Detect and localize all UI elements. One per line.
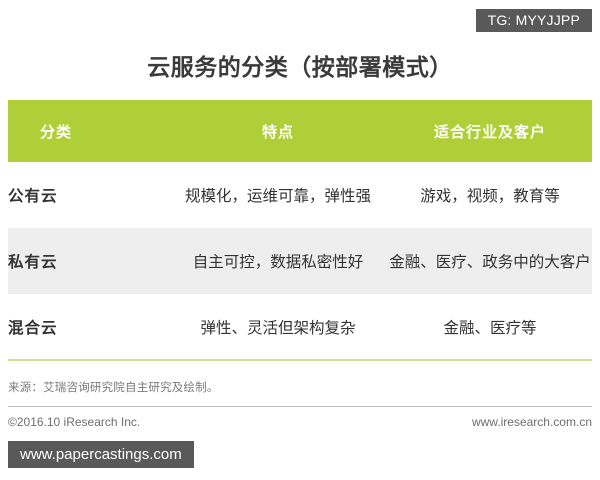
- cell-category: 公有云: [8, 162, 168, 228]
- table-header-row: 分类 特点 适合行业及客户: [8, 100, 592, 162]
- column-header-fit: 适合行业及客户: [388, 100, 592, 162]
- table-row: 私有云 自主可控，数据私密性好 金融、医疗、政务中的大客户: [8, 228, 592, 294]
- column-header-feature: 特点: [168, 100, 388, 162]
- footer-divider: [8, 406, 592, 407]
- cell-category: 私有云: [8, 228, 168, 294]
- cell-fit: 金融、医疗、政务中的大客户: [388, 228, 592, 294]
- table-row: 混合云 弹性、灵活但架构复杂 金融、医疗等: [8, 294, 592, 360]
- footer-website: www.iresearch.com.cn: [472, 415, 592, 429]
- cell-feature: 规模化，运维可靠，弹性强: [168, 162, 388, 228]
- source-note: 来源：艾瑞咨询研究院自主研究及绘制。: [8, 379, 219, 395]
- column-header-category: 分类: [8, 100, 168, 162]
- cell-fit: 金融、医疗等: [388, 294, 592, 360]
- table-row: 公有云 规模化，运维可靠，弹性强 游戏，视频，教育等: [8, 162, 592, 228]
- cell-feature: 自主可控，数据私密性好: [168, 228, 388, 294]
- page-title: 云服务的分类（按部署模式）: [0, 48, 600, 82]
- footer-copyright: ©2016.10 iResearch Inc.: [8, 415, 140, 429]
- cell-feature: 弹性、灵活但架构复杂: [168, 294, 388, 360]
- cell-fit: 游戏，视频，教育等: [388, 162, 592, 228]
- watermark-badge: www.papercastings.com: [8, 441, 194, 468]
- tg-badge: TG: MYYJJPP: [476, 9, 592, 32]
- cell-category: 混合云: [8, 294, 168, 360]
- classification-table: 分类 特点 适合行业及客户 公有云 规模化，运维可靠，弹性强 游戏，视频，教育等…: [8, 100, 592, 361]
